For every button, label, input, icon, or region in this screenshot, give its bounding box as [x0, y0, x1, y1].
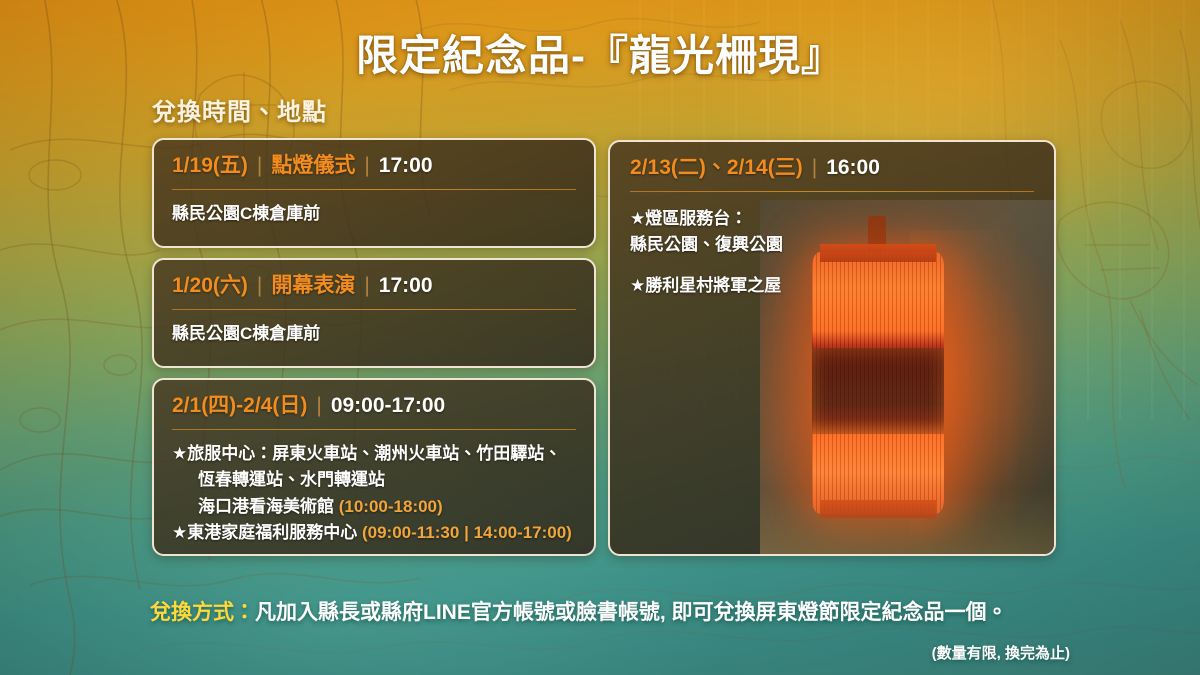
separator-icon: | — [364, 154, 369, 178]
schedule-panel-right: 2/13(二)、2/14(三) | 16:00 ★燈區服務台： 縣民公園、復興公… — [608, 140, 1056, 556]
section-label: 兌換時間、地點 — [152, 92, 327, 127]
location-hours-a: (09:00-11:30 — [362, 523, 459, 542]
card-date: 2/13(二)、2/14(三) — [630, 156, 803, 180]
card-event: 開幕表演 — [271, 274, 355, 298]
card-date: 1/19(五) — [172, 154, 248, 178]
separator-icon: | — [364, 274, 369, 298]
location-line-4: ★東港家庭福利服務中心 (09:00-11:30 | 14:00-17:00) — [172, 520, 576, 546]
location-name: 海口港看海美術館 — [198, 497, 334, 516]
card-header: 1/19(五) | 點燈儀式 | 17:00 — [172, 154, 576, 178]
card-date: 1/20(六) — [172, 274, 248, 298]
redemption-method-text: 兌換方式：凡加入縣長或縣府LINE官方帳號或臉書帳號, 即可兌換屏東燈節限定紀念… — [150, 596, 1070, 626]
location-line-3: 海口港看海美術館 (10:00-18:00) — [172, 494, 576, 520]
card-time: 17:00 — [379, 154, 433, 178]
card-time: 09:00-17:00 — [331, 394, 445, 418]
lantern-band — [812, 348, 944, 434]
card-location: 縣民公園C棟倉庫前 — [172, 201, 576, 227]
schedule-card-2: 1/20(六) | 開幕表演 | 17:00 縣民公園C棟倉庫前 — [152, 258, 596, 368]
separator-icon: | — [257, 274, 262, 298]
card-time: 17:00 — [379, 274, 433, 298]
footer: 兌換方式：凡加入縣長或縣府LINE官方帳號或臉書帳號, 即可兌換屏東燈節限定紀念… — [150, 596, 1070, 663]
card-date: 2/1(四)-2/4(日) — [172, 394, 307, 418]
card-divider — [630, 191, 1034, 192]
card-divider — [172, 429, 576, 430]
location-hours: (10:00-18:00) — [339, 497, 443, 516]
card-header: 1/20(六) | 開幕表演 | 17:00 — [172, 274, 576, 298]
card-divider — [172, 189, 576, 190]
location-line-2: 恆春轉運站、水門轉運站 — [172, 467, 576, 493]
card-location-list: ★燈區服務台： 縣民公園、復興公園 ★勝利星村將軍之屋 — [630, 206, 1034, 299]
location-line-1: ★旅服中心：屏東火車站、潮州火車站、竹田驛站、 — [172, 441, 576, 467]
separator-icon: | — [812, 156, 817, 180]
card-event: 點燈儀式 — [271, 154, 355, 178]
redemption-method-body: 凡加入縣長或縣府LINE官方帳號或臉書帳號, 即可兌換屏東燈節限定紀念品一個。 — [255, 601, 1008, 624]
card-header: 2/13(二)、2/14(三) | 16:00 — [630, 156, 1034, 180]
location-line-2: 縣民公園、復興公園 — [630, 232, 1034, 258]
redemption-method-label: 兌換方式： — [150, 601, 255, 624]
location-line-1: ★燈區服務台： — [630, 206, 1034, 232]
location-line-3: ★勝利星村將軍之屋 — [630, 273, 1034, 299]
card-divider — [172, 309, 576, 310]
separator-icon: | — [257, 154, 262, 178]
card-time: 16:00 — [826, 156, 880, 180]
panel-content: 2/13(二)、2/14(三) | 16:00 ★燈區服務台： 縣民公園、復興公… — [610, 142, 1054, 313]
card-location-list: ★旅服中心：屏東火車站、潮州火車站、竹田驛站、 恆春轉運站、水門轉運站 海口港看… — [172, 441, 576, 546]
separator-icon: | — [316, 394, 321, 418]
schedule-card-3: 2/1(四)-2/4(日) | 09:00-17:00 ★旅服中心：屏東火車站、… — [152, 378, 596, 556]
card-location: 縣民公園C棟倉庫前 — [172, 321, 576, 347]
schedule-card-1: 1/19(五) | 點燈儀式 | 17:00 縣民公園C棟倉庫前 — [152, 138, 596, 248]
hours-separator-icon: | — [464, 523, 469, 542]
location-hours-b: 14:00-17:00) — [474, 523, 572, 542]
page-title: 限定紀念品-『龍光柵現』 — [0, 22, 1200, 83]
spacer — [630, 259, 1034, 273]
footer-note: (數量有限, 換完為止) — [150, 642, 1070, 663]
poster-canvas: 限定紀念品-『龍光柵現』 兌換時間、地點 1/19(五) | 點燈儀式 | 17… — [0, 0, 1200, 675]
photo-floor-light — [760, 490, 1056, 556]
card-header: 2/1(四)-2/4(日) | 09:00-17:00 — [172, 394, 576, 418]
location-name: ★東港家庭福利服務中心 — [172, 523, 357, 542]
